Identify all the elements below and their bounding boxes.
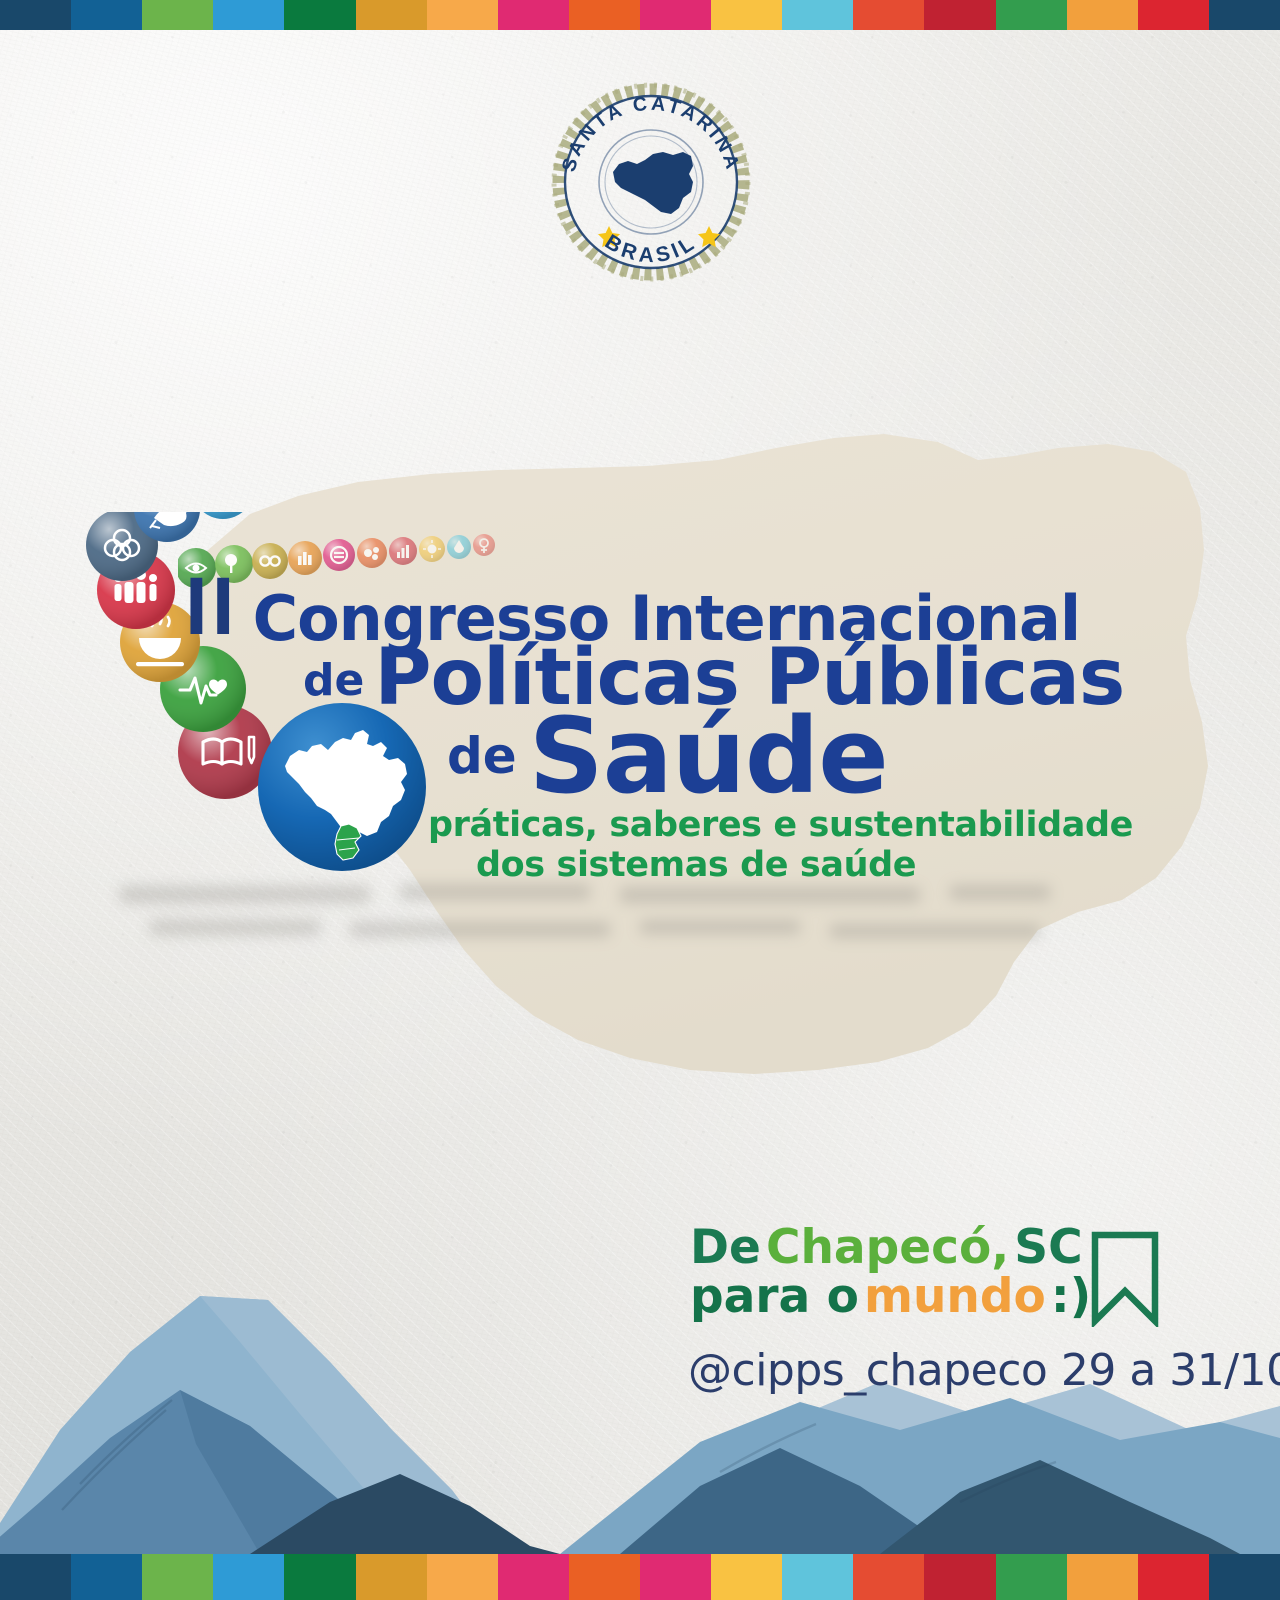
sdg-color-bar-top — [0, 0, 1280, 30]
title-line-3: Saúde — [529, 709, 888, 805]
sdg-bead-city-icon-small — [288, 541, 322, 575]
sdg-stripe-segment — [1138, 1554, 1209, 1600]
sdg-stripe-segment — [782, 1554, 853, 1600]
sdg-bead-gender-icon-small — [473, 534, 495, 556]
sdg-stripe-segment — [640, 0, 711, 30]
sdg-stripe-segment — [0, 1554, 71, 1600]
sdg-stripe-segment — [142, 0, 213, 30]
edition-numeral: II — [185, 569, 239, 644]
tagline-line-2: para o mundo :) — [690, 1273, 1091, 1322]
subtitle-line-1: práticas, saberes e sustentabilidade — [428, 806, 1133, 846]
sdg-stripe-segment — [71, 1554, 142, 1600]
tagline-de: De — [690, 1220, 761, 1275]
sdg-stripe-segment — [569, 0, 640, 30]
sdg-stripe-segment — [924, 0, 995, 30]
poster-canvas: SANTA CATARINA BRASIL — [0, 0, 1280, 1600]
sdg-stripe-segment — [782, 0, 853, 30]
sdg-bead-water-drop-icon-small — [447, 535, 471, 559]
sdg-stripe-segment — [213, 1554, 284, 1600]
sdg-stripe-segment — [996, 1554, 1067, 1600]
tagline-city: Chapecó, — [766, 1220, 1009, 1275]
sdg-bead-bar-chart-icon-small — [389, 537, 417, 565]
sdg-bead-fish-waves-icon — [192, 512, 254, 519]
sdg-bead-equals-icon-small — [323, 539, 355, 571]
sdg-stripe-segment — [498, 0, 569, 30]
tagline-state: SC — [1014, 1220, 1082, 1275]
tagline-para-o: para o — [690, 1269, 859, 1324]
sdg-stripe-segment — [142, 1554, 213, 1600]
tagline: De Chapecó, SC para o mundo :) — [690, 1224, 1091, 1322]
sdg-stripe-segment — [711, 1554, 782, 1600]
santa-catarina-stamp: SANTA CATARINA BRASIL — [533, 76, 769, 292]
sdg-stripe-segment — [498, 1554, 569, 1600]
sdg-stripe-segment — [711, 0, 782, 30]
sdg-bead-sun-icon-small — [419, 536, 445, 562]
subtitle: práticas, saberes e sustentabilidade dos… — [428, 806, 1133, 886]
subtitle-line-2: dos sistemas de saúde — [476, 846, 1133, 886]
sdg-stripe-segment — [1067, 0, 1138, 30]
sdg-stripe-segment — [996, 0, 1067, 30]
sdg-color-bar-bottom — [0, 1554, 1280, 1600]
sdg-stripe-segment — [1138, 0, 1209, 30]
sdg-stripe-segment — [356, 1554, 427, 1600]
sdg-stripe-segment — [853, 0, 924, 30]
tagline-mundo: mundo — [864, 1269, 1046, 1324]
sdg-stripe-segment — [1209, 0, 1280, 30]
tagline-line-1: De Chapecó, SC — [690, 1224, 1091, 1273]
handle-and-dates: @cipps_chapeco 29 a 31/10 — [688, 1345, 1280, 1396]
sdg-bead-gears-icon-small — [357, 538, 387, 568]
sdg-stripe-segment — [569, 1554, 640, 1600]
sdg-stripe-segment — [924, 1554, 995, 1600]
sdg-stripe-segment — [71, 0, 142, 30]
sdg-stripe-segment — [1209, 1554, 1280, 1600]
sdg-stripe-segment — [427, 0, 498, 30]
sdg-stripe-segment — [1067, 1554, 1138, 1600]
bookmark-icon — [1089, 1229, 1161, 1327]
title-connector-de-1: de — [303, 661, 364, 701]
sdg-stripe-segment — [0, 0, 71, 30]
tagline-smiley: :) — [1051, 1269, 1091, 1324]
title-connector-de-2: de — [447, 733, 517, 779]
sdg-stripe-segment — [284, 0, 355, 30]
sdg-stripe-segment — [853, 1554, 924, 1600]
sdg-stripe-segment — [213, 0, 284, 30]
sdg-stripe-segment — [284, 1554, 355, 1600]
page-title: II Congresso Internacional de Políticas … — [185, 572, 1145, 805]
sdg-stripe-segment — [640, 1554, 711, 1600]
sdg-stripe-segment — [427, 1554, 498, 1600]
sdg-stripe-segment — [356, 0, 427, 30]
